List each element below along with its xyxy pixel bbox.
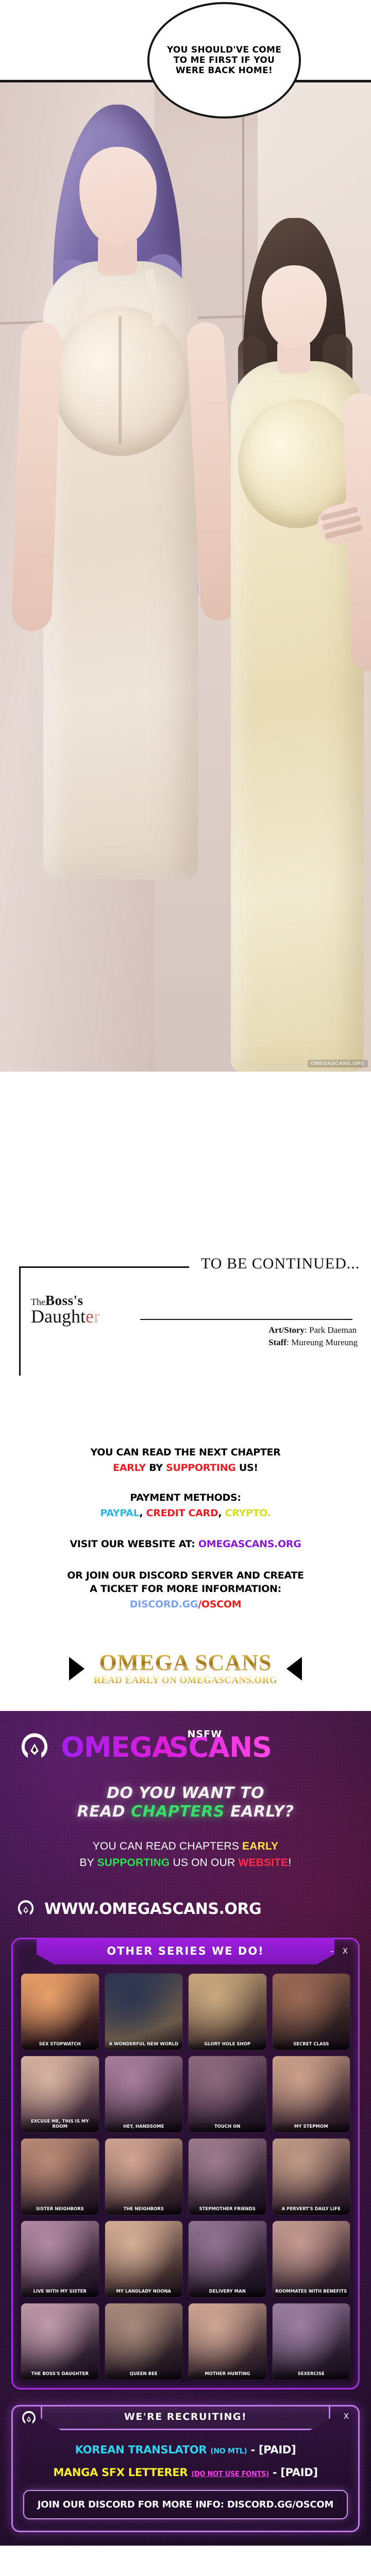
sub-bang: ! (288, 1857, 291, 1869)
promo-by: BY (149, 1462, 163, 1473)
series-title: TheBoss's Daughter (31, 1294, 100, 1325)
speech-bubble-text: YOU SHOULD'VE COME TO ME FIRST IF YOU WE… (149, 45, 299, 76)
series-card[interactable]: LIVE WITH MY SISTER (21, 2221, 99, 2297)
sub-early: EARLY (242, 1840, 278, 1852)
cta-early: EARLY? (230, 1803, 294, 1821)
triangle-left-icon (69, 1657, 85, 1681)
discord-invite-line-1: OR JOIN OUR DISCORD SERVER AND CREATE A … (0, 1569, 371, 1596)
visit-label: VISIT OUR WEBSITE AT: (70, 1538, 195, 1550)
other-series-header: OTHER SERIES WE DO! (37, 1938, 334, 1964)
other-series-panel: OTHER SERIES WE DO! – X SEX STOPWATCH A … (11, 1938, 360, 2389)
series-cover-art (273, 2221, 350, 2297)
series-card-title: MY STEPMOM (273, 2122, 350, 2133)
series-title-daughter-part2: e (86, 1306, 94, 1327)
comic-chapter-page: OMEGASCANS.ORG YOU SHOULD'VE COME TO ME … (0, 0, 371, 2546)
series-cover-art (21, 2303, 99, 2380)
series-card-title: SISTER NEIGHBORS (21, 2205, 99, 2215)
payment-methods: PAYPAL, CREDIT CARD, CRYPTO. (0, 1507, 371, 1519)
series-card[interactable]: MY LANDLADY NOONA (105, 2221, 183, 2297)
credit-staff-label: Staff (268, 1337, 286, 1347)
series-title-daughter: Daughter (31, 1308, 100, 1325)
series-card-title: A PERVERT'S DAILY LIFE (273, 2205, 350, 2215)
series-card[interactable]: SEX STOPWATCH (21, 1974, 99, 2050)
series-card[interactable]: GLORY HOLE SHOP (189, 1974, 266, 2050)
series-cover-art (105, 2221, 183, 2297)
promo-supporting: SUPPORTING (166, 1462, 235, 1473)
job-role: MANGA SFX LETTERER (53, 2466, 188, 2479)
gold-logo-text-group: OMEGA SCANS READ EARLY ON OMEGASCANS.ORG (94, 1651, 277, 1686)
payment-heading: PAYMENT METHODS: (0, 1492, 371, 1503)
job-dash: - (251, 2444, 255, 2456)
series-card-title: GLORY HOLE SHOP (189, 2040, 266, 2050)
series-card-title: SEXERCISE (273, 2369, 350, 2380)
omega-logo-icon-recruiting (20, 2410, 38, 2427)
character-dark-hair (216, 218, 371, 1072)
cta-headline: DO YOU WANT TO READ CHAPTERS EARLY? (0, 1784, 371, 1821)
series-cover-art (189, 2221, 266, 2297)
banner-brand-word: OMEGASCANS NSFW (61, 1734, 272, 1761)
series-card[interactable]: A WONDERFUL NEW WORLD (105, 1974, 183, 2050)
series-cover-art (189, 2139, 266, 2215)
series-title-daughter-part3: r (94, 1306, 100, 1327)
sub-a: YOU CAN READ CHAPTERS (93, 1840, 239, 1852)
omega-logo-icon (18, 1731, 52, 1765)
watermark-label: OMEGASCANS.ORG (308, 1060, 368, 1067)
series-card[interactable]: STEPMOTHER FRIENDS (189, 2139, 266, 2215)
series-card-title: A WONDERFUL NEW WORLD (105, 2040, 183, 2050)
end-card-rule-left (19, 1266, 21, 1376)
series-card-title: HEY, HANDSOME (105, 2122, 183, 2133)
series-cover-art (273, 2056, 350, 2132)
credit-art-label: Art/Story (268, 1325, 305, 1335)
series-card-title: SEX STOPWATCH (21, 2040, 99, 2050)
visit-website-line: VISIT OUR WEBSITE AT: OMEGASCANS.ORG (0, 1538, 371, 1550)
series-card[interactable]: ROOMMATES WITH BENEFITS (273, 2221, 350, 2297)
series-cover-art (21, 1974, 99, 2050)
series-card-title: DELIVERY MAN (189, 2287, 266, 2298)
series-card-title: SECRET CLASS (273, 2040, 350, 2050)
comic-panel: OMEGASCANS.ORG YOU SHOULD'VE COME TO ME … (0, 0, 371, 1221)
cta-subtext: YOU CAN READ CHAPTERS EARLY BY SUPPORTIN… (0, 1838, 371, 1871)
nsfw-badge: NSFW (188, 1730, 223, 1739)
website-url-link[interactable]: OMEGASCANS.ORG (198, 1538, 301, 1550)
triangle-right-icon (286, 1657, 302, 1681)
credits-rule (140, 1319, 352, 1320)
recruiting-title: WE'RE RECRUITING! (124, 2411, 247, 2422)
recruiting-job-item: MANGA SFX LETTERER (DO NOT USE FONTS) - … (13, 2466, 358, 2479)
sub-supporting: SUPPORTING (97, 1857, 170, 1869)
job-note: (DO NOT USE FONTS) (191, 2470, 269, 2478)
recruiting-header: WE'RE RECRUITING! (41, 2405, 330, 2430)
series-thumbnail-grid: SEX STOPWATCH A WONDERFUL NEW WORLD GLOR… (13, 1964, 358, 2380)
cta-read: READ (77, 1803, 125, 1821)
character-torso (53, 307, 189, 456)
banner-brand-row: OMEGASCANS NSFW (0, 1711, 371, 1771)
end-card: TO BE CONTINUED... TheBoss's Daughter Ar… (0, 1221, 371, 1437)
recruiting-discord-cta[interactable]: JOIN OUR DISCORD FOR MORE INFO: DISCORD.… (23, 2490, 348, 2519)
promo-line-1: YOU CAN READ THE NEXT CHAPTER (0, 1447, 371, 1458)
series-cover-art (105, 1974, 183, 2050)
job-role: KOREAN TRANSLATOR (75, 2444, 207, 2456)
discord-text-2: A TICKET FOR MORE INFORMATION: (90, 1583, 281, 1595)
recruiting-job-item: KOREAN TRANSLATOR (NO MTL) - [PAID] (13, 2444, 358, 2456)
payment-credit-card: CREDIT CARD (146, 1507, 218, 1519)
series-card-title: THE NEIGHBORS (105, 2205, 183, 2215)
series-card[interactable]: QUEEN BEE (105, 2303, 183, 2380)
omega-logo-icon-small (15, 1899, 36, 1919)
banner-website-url[interactable]: WWW.OMEGASCANS.ORG (44, 1900, 261, 1918)
character-purple-hair (40, 80, 210, 1072)
series-card[interactable]: A PERVERT'S DAILY LIFE (273, 2139, 350, 2215)
series-card-title: TOUCH ON (189, 2122, 266, 2133)
banner-cta: DO YOU WANT TO READ CHAPTERS EARLY? YOU … (0, 1771, 371, 1873)
promo-line-2: EARLY BY SUPPORTING US! (0, 1462, 371, 1473)
recruiting-discord-text[interactable]: JOIN OUR DISCORD FOR MORE INFO: DISCORD.… (38, 2499, 333, 2510)
series-card[interactable]: DELIVERY MAN (189, 2221, 266, 2297)
support-promo: YOU CAN READ THE NEXT CHAPTER EARLY BY S… (0, 1437, 371, 1631)
close-icon[interactable]: X (344, 2412, 349, 2421)
series-cover-art (189, 2056, 266, 2132)
series-cover-art (189, 1974, 266, 2050)
credit-staff: Staff: Mureung Mureung (268, 1336, 358, 1349)
payment-crypto: CRYPTO. (225, 1507, 271, 1519)
series-card-title: MOTHER HUNTING (189, 2369, 266, 2380)
series-cover-art (273, 1974, 350, 2050)
series-card-title: ROOMMATES WITH BENEFITS (273, 2287, 350, 2298)
series-cover-art (105, 2139, 183, 2215)
recruiting-panel: WE'RE RECRUITING! X KOREAN TRANSLATOR (N… (11, 2405, 360, 2532)
gold-logo-title: OMEGA SCANS (94, 1651, 277, 1674)
series-card[interactable]: THE NEIGHBORS (105, 2139, 183, 2215)
comic-artwork: OMEGASCANS.ORG (0, 80, 371, 1072)
job-pay-badge: [PAID] (259, 2444, 296, 2456)
series-card-title: MY LANDLADY NOONA (105, 2287, 183, 2298)
cta-chapters: CHAPTERS (131, 1803, 225, 1821)
job-dash: - (273, 2466, 277, 2479)
credit-art-story: Art/Story: Park Daeman (268, 1324, 358, 1336)
window-controls[interactable]: – X (330, 1946, 351, 1956)
series-card-title: LIVE WITH MY SISTER (21, 2287, 99, 2298)
sub-by: BY (80, 1857, 94, 1869)
series-card[interactable]: EXCUSE ME, THIS IS MY ROOM (21, 2056, 99, 2132)
series-card[interactable]: SECRET CLASS (273, 1974, 350, 2050)
series-cover-art (105, 2056, 183, 2132)
other-series-title: OTHER SERIES WE DO! (107, 1945, 264, 1957)
discord-url-line[interactable]: DISCORD.GG/OSCOM (0, 1599, 371, 1610)
series-cover-art (273, 2139, 350, 2215)
speech-bubble: YOU SHOULD'VE COME TO ME FIRST IF YOU WE… (147, 2, 301, 118)
discord-url-domain[interactable]: DISCORD.GG (130, 1599, 198, 1610)
end-card-rule-top (19, 1266, 189, 1268)
series-card[interactable]: MOTHER HUNTING (189, 2303, 266, 2380)
series-card[interactable]: HEY, HANDSOME (105, 2056, 183, 2132)
sub-website: WEBSITE (238, 1857, 288, 1869)
discord-text-1: OR JOIN OUR DISCORD SERVER AND CREATE (67, 1570, 304, 1581)
credit-art-value: Park Daeman (309, 1325, 357, 1335)
series-card-title: EXCUSE ME, THIS IS MY ROOM (21, 2117, 99, 2132)
gold-logo-row: OMEGA SCANS READ EARLY ON OMEGASCANS.ORG (0, 1651, 371, 1686)
promo-early: EARLY (113, 1462, 146, 1473)
sub-us: US ON OUR (173, 1857, 235, 1869)
brand-omega-text: OMEGA (61, 1731, 173, 1764)
job-note: (NO MTL) (210, 2447, 247, 2455)
series-card[interactable]: MY STEPMOM (273, 2056, 350, 2132)
series-cover-art (189, 2303, 266, 2380)
promo-us: US! (239, 1462, 258, 1473)
series-title-daughter-part1: Daught (31, 1306, 86, 1327)
job-pay-badge: [PAID] (280, 2466, 317, 2479)
payment-paypal: PAYPAL (100, 1507, 139, 1519)
series-card[interactable]: SISTER NEIGHBORS (21, 2139, 99, 2215)
gold-logo-subtitle: READ EARLY ON OMEGASCANS.ORG (94, 1675, 277, 1686)
series-card-title: STEPMOTHER FRIENDS (189, 2205, 266, 2215)
series-cover-art (105, 2303, 183, 2380)
series-cover-art (21, 2221, 99, 2297)
to-be-continued-text: TO BE CONTINUED... (201, 1255, 360, 1273)
series-cover-art (273, 2303, 350, 2380)
series-card[interactable]: SEXERCISE (273, 2303, 350, 2380)
series-card-title: THE BOSS'S DAUGHTER (21, 2369, 99, 2380)
recruiting-job-list: KOREAN TRANSLATOR (NO MTL) - [PAID] MANG… (13, 2430, 358, 2479)
banner-url-bar[interactable]: WWW.OMEGASCANS.ORG (15, 1893, 371, 1924)
discord-url-path[interactable]: /OSCOM (198, 1599, 241, 1610)
cta-line-1: DO YOU WANT TO (107, 1784, 264, 1802)
series-cover-art (21, 2139, 99, 2215)
gold-logo-block: OMEGA SCANS READ EARLY ON OMEGASCANS.ORG (0, 1631, 371, 1711)
series-card[interactable]: THE BOSS'S DAUGHTER (21, 2303, 99, 2380)
series-card[interactable]: TOUCH ON (189, 2056, 266, 2132)
credits-block: Art/Story: Park Daeman Staff: Mureung Mu… (268, 1324, 358, 1349)
omegascans-banner: OMEGASCANS NSFW DO YOU WANT TO READ CHAP… (0, 1711, 371, 2546)
series-card-title: QUEEN BEE (105, 2369, 183, 2380)
credit-staff-value: Mureung Mureung (291, 1337, 358, 1347)
